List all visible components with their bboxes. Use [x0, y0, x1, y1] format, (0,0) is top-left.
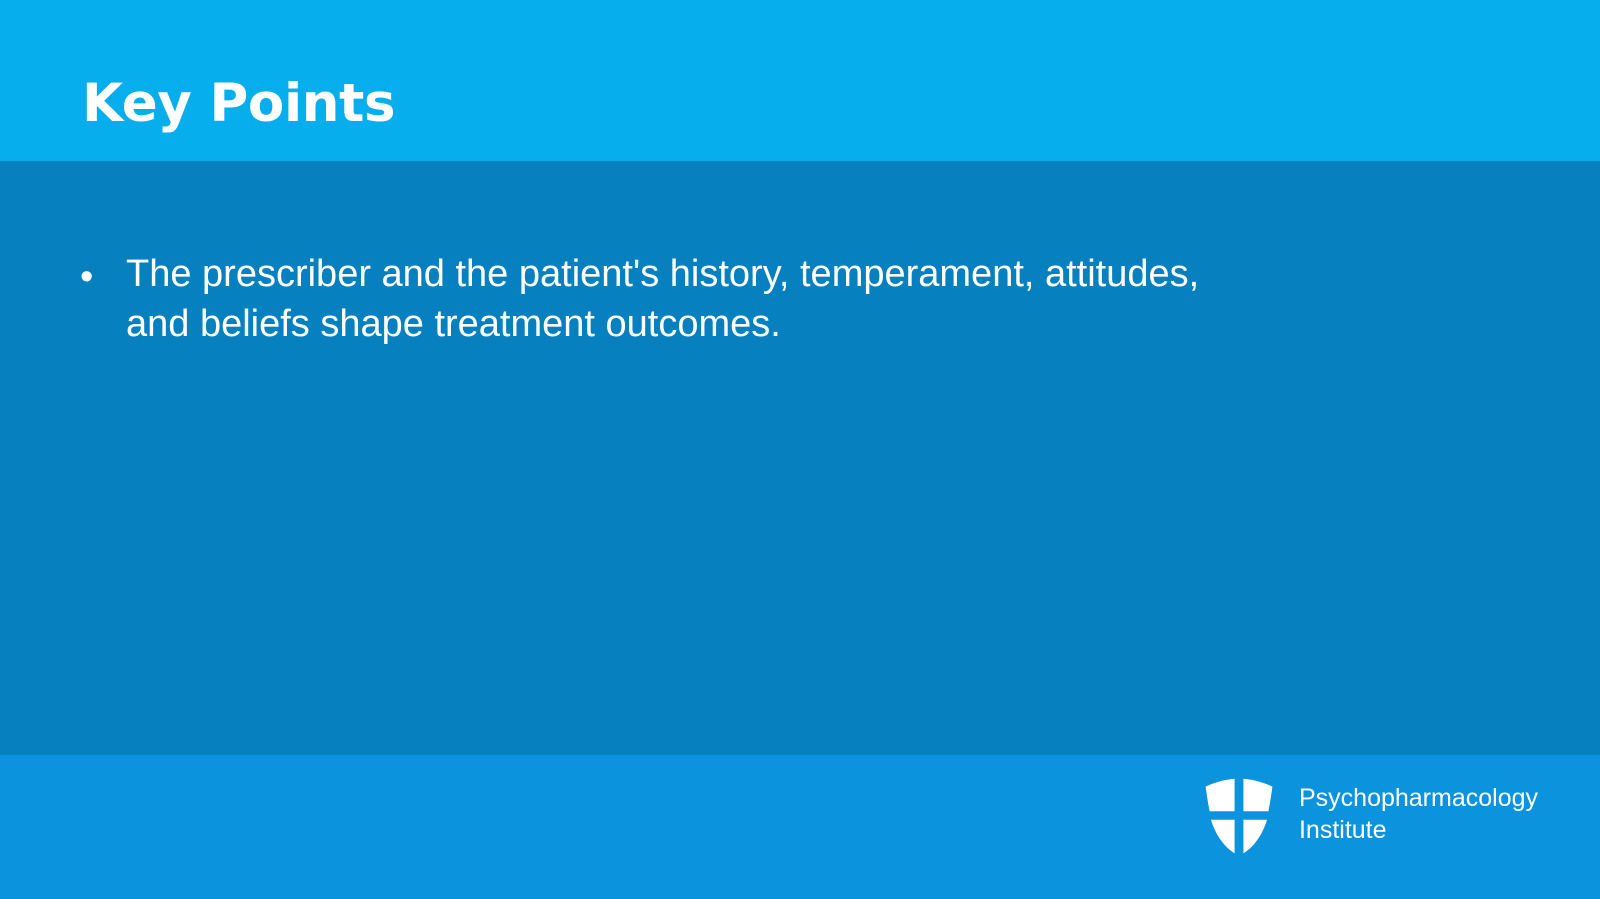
brand-logo: Psychopharmacology Institute	[1201, 777, 1538, 855]
brand-name-line-2: Institute	[1299, 814, 1538, 846]
slide-header-band: Key Points	[0, 0, 1600, 161]
bullet-list-item: • The prescriber and the patient's histo…	[0, 161, 1600, 349]
presentation-slide: Key Points • The prescriber and the pati…	[0, 0, 1600, 899]
shield-crest-icon	[1201, 777, 1277, 855]
bullet-list: • The prescriber and the patient's histo…	[0, 161, 1600, 349]
slide-footer-band: Psychopharmacology Institute	[0, 755, 1600, 899]
brand-wordmark: Psychopharmacology Institute	[1299, 782, 1538, 850]
brand-name-line-1: Psychopharmacology	[1299, 782, 1538, 814]
slide-body-band: • The prescriber and the patient's histo…	[0, 161, 1600, 755]
bullet-text: The prescriber and the patient's history…	[126, 161, 1216, 349]
slide-title: Key Points	[82, 73, 395, 135]
bullet-marker-icon: •	[80, 252, 98, 302]
